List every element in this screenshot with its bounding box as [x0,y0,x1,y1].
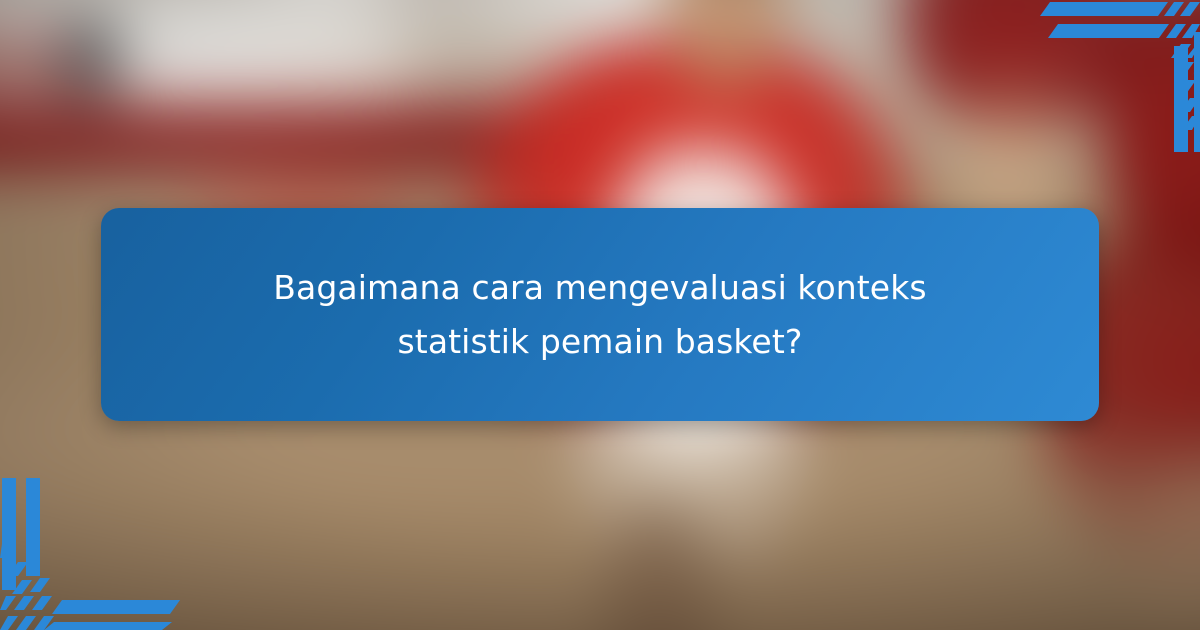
corner-decoration-top-right [1040,0,1200,160]
share-card-canvas: Bagaimana cara mengevaluasi konteks stat… [0,0,1200,630]
question-card: Bagaimana cara mengevaluasi konteks stat… [101,208,1099,421]
question-text: Bagaimana cara mengevaluasi konteks stat… [250,261,950,368]
corner-decoration-bottom-left [0,470,180,630]
